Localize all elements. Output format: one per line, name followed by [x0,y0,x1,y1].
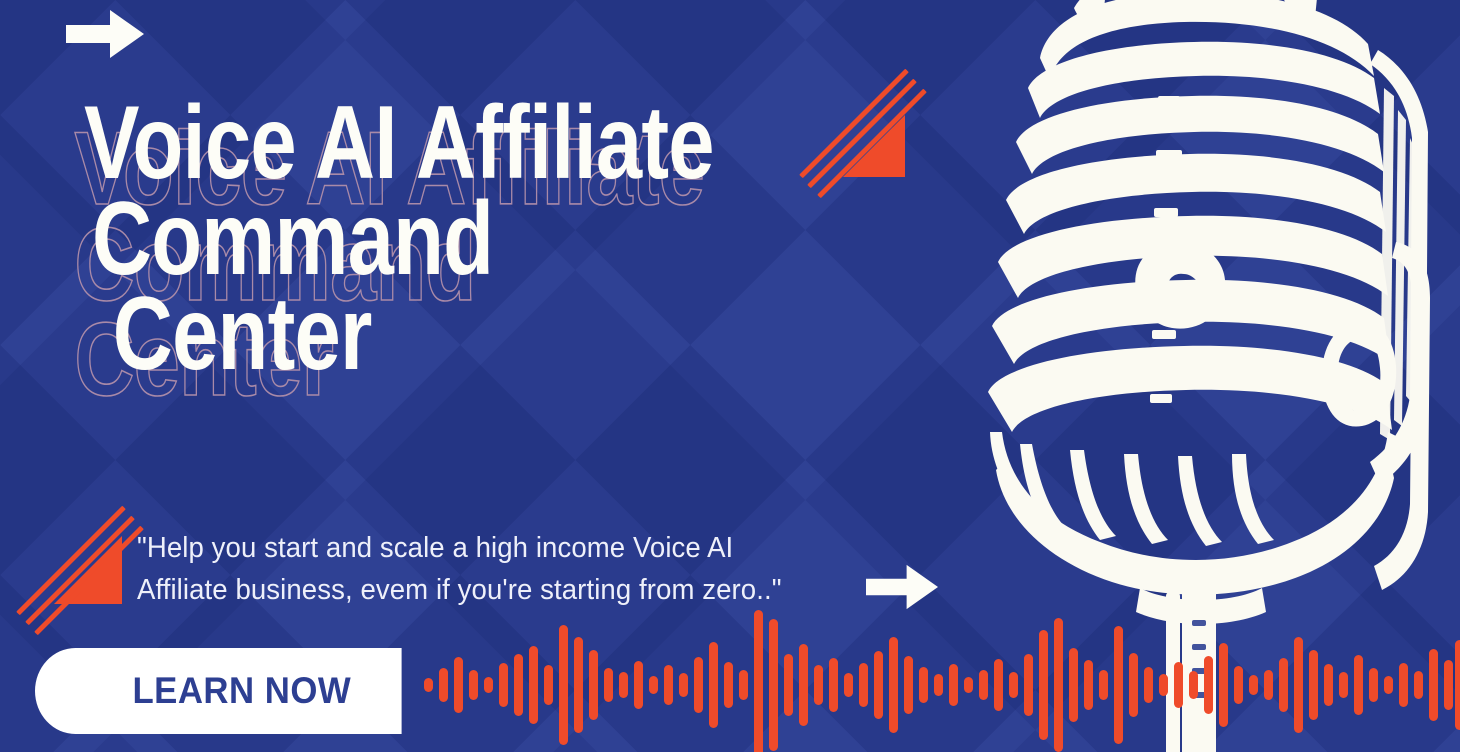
waveform-bar [619,672,628,698]
waveform-bar [1234,666,1243,704]
waveform-bar [589,650,598,720]
waveform-bar [634,661,643,709]
waveform-bar [1264,670,1273,700]
arrow-right-icon [866,562,938,612]
headline-line-1: Voice AI Affiliate Voice AI Affiliate [84,96,692,192]
waveform-bar [1399,663,1408,707]
waveform-bar [1429,649,1438,721]
waveform-bar [1159,674,1168,696]
subtitle-line-1: "Help you start and scale a high income … [137,527,831,569]
waveform-bar [1444,660,1453,710]
subtitle-line-2: Affiliate business, evem if you're start… [137,569,831,611]
waveform-bar [679,673,688,697]
waveform-bar [964,677,973,693]
striped-triangle-icon [28,505,128,610]
waveform-bar [454,657,463,713]
waveform-bar [1455,673,1460,697]
waveform-bar [1414,671,1423,699]
waveform-bar [709,642,718,728]
promo-banner: Voice AI Affiliate Voice AI Affiliate Co… [0,0,1460,752]
waveform-bar [1024,654,1033,716]
waveform-bar [1069,648,1078,722]
waveform-bar [559,625,568,745]
waveform-bar [1294,637,1303,733]
subtitle: "Help you start and scale a high income … [137,527,831,611]
learn-now-button[interactable]: LEARN NOW [35,648,402,734]
waveform-bar [469,670,478,700]
waveform-bar [904,656,913,714]
waveform-bar [1455,667,1460,703]
waveform-bar [1114,626,1123,744]
headline-line-3-text: Center [113,276,372,392]
waveform-bar [769,619,778,751]
arrow-right-icon [66,8,144,60]
waveform-bar [979,670,988,700]
waveform-bar [574,637,583,733]
waveform-bar [1144,667,1153,703]
waveform-bar [829,658,838,712]
waveform-bar [604,668,613,702]
waveform-bar [439,668,448,702]
waveform-bar [1324,664,1333,706]
waveform-bar [1204,656,1213,714]
waveform-bar [1129,653,1138,717]
waveform-bar [484,677,493,693]
waveform-bar [799,644,808,726]
waveform-bar [424,678,433,692]
waveform-bar [694,657,703,713]
waveform-bar [844,673,853,697]
waveform-bar [994,659,1003,711]
waveform-bar [754,610,763,752]
waveform-bar [874,651,883,719]
waveform-bar [1219,643,1228,727]
waveform-bar [1054,618,1063,752]
waveform-bar [529,646,538,724]
waveform-bar [499,663,508,707]
waveform-bar [859,663,868,707]
page-title: Voice AI Affiliate Voice AI Affiliate Co… [84,96,844,383]
waveform-bar [1354,655,1363,715]
waveform-bar [1249,675,1258,695]
waveform-bar [1009,672,1018,698]
waveform-bar [934,674,943,696]
waveform-bar [1309,650,1318,720]
waveform-bar [1279,658,1288,712]
waveform-bar [1455,640,1460,730]
headline-line-3: Center Center [84,287,692,383]
waveform-bar [1369,668,1378,702]
waveform-bar [814,665,823,705]
waveform-bar [1084,660,1093,710]
waveform-bar [1174,662,1183,708]
retro-microphone-illustration [970,0,1460,752]
waveform-bar [544,665,553,705]
waveform-bar [724,662,733,708]
waveform-bar [949,664,958,706]
waveform-bar [664,665,673,705]
headline-line-2: Command Command [84,192,692,288]
waveform-bar [1384,676,1393,694]
waveform-bar [1099,670,1108,700]
waveform-bar [649,676,658,694]
waveform-bar [514,654,523,716]
waveform-bar [1339,672,1348,698]
waveform-bar [889,637,898,733]
waveform-bar [739,670,748,700]
waveform-bar [784,654,793,716]
waveform-bar [919,667,928,703]
waveform-bar [1039,630,1048,740]
waveform-bar [1189,671,1198,699]
